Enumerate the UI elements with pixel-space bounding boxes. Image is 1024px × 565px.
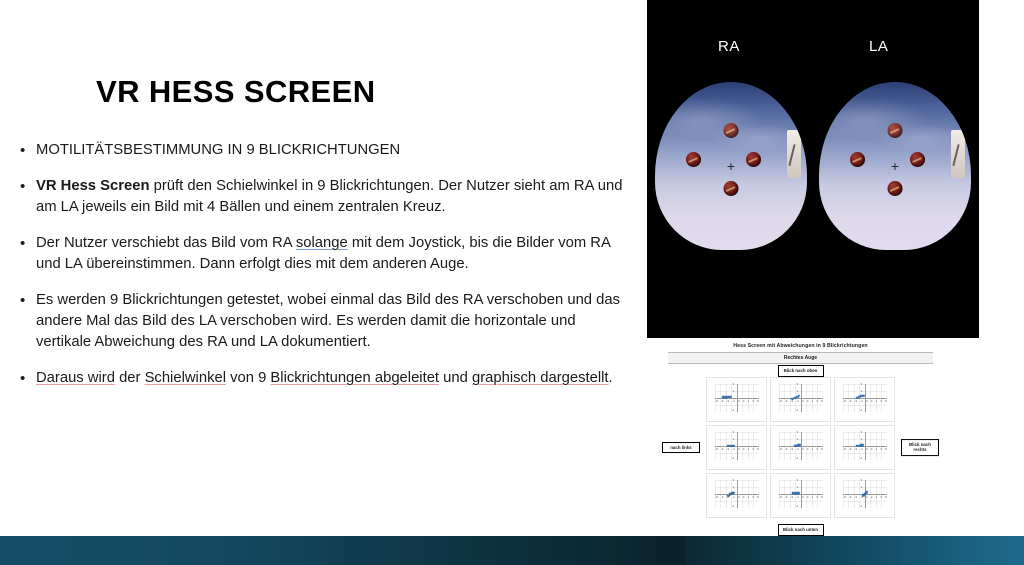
vr-eye-view-right: +: [655, 82, 807, 250]
y-axis: [801, 480, 802, 508]
ball-top-icon: [724, 123, 739, 138]
label-gaze-up: Blick nach oben: [778, 365, 824, 377]
x-tick-label: 4: [812, 496, 814, 499]
page-title: VR HESS SCREEN: [96, 74, 376, 110]
mini-chart-gridlines: [715, 432, 759, 460]
x-tick-label: 0: [802, 496, 804, 499]
bullet-derivation: •Daraus wird der Schielwinkel von 9 Blic…: [14, 368, 634, 389]
x-tick-label: 2: [871, 496, 873, 499]
x-tick-label: -8: [779, 496, 781, 499]
x-tick-label: 0: [866, 496, 868, 499]
text-run: und: [439, 370, 472, 386]
bullet-text: VR Hess Screen prüft den Schielwinkel in…: [36, 176, 634, 218]
mini-chart-gridlines: [715, 480, 759, 508]
hess-mini-chart-grid: -8-6-4-20246821-2-8-6-4-20246821-2-8-6-4…: [706, 377, 895, 518]
y-axis: [865, 384, 866, 412]
x-tick-label: 8: [885, 448, 887, 451]
bullet-marker-icon: •: [14, 176, 36, 197]
x-tick-label: 4: [812, 448, 814, 451]
x-tick-label: -4: [855, 400, 857, 403]
x-tick-label: 2: [743, 496, 745, 499]
x-tick-label: 6: [881, 400, 883, 403]
bullet-text: Daraus wird der Schielwinkel von 9 Blick…: [36, 368, 634, 389]
x-tick-label: 6: [753, 496, 755, 499]
x-tick-label: -2: [732, 400, 734, 403]
mini-chart-gridlines: [843, 432, 887, 460]
bullet-text: MOTILITÄTSBESTIMMUNG IN 9 BLICKRICHTUNGE…: [36, 140, 634, 161]
x-tick-label: -8: [843, 496, 845, 499]
x-tick-label: -6: [721, 496, 723, 499]
y-tick-label: -2: [732, 457, 734, 460]
bullet-definition: •VR Hess Screen prüft den Schielwinkel i…: [14, 176, 634, 218]
bullet-marker-icon: •: [14, 140, 36, 161]
mini-chart-gridlines: [715, 384, 759, 412]
y-tick-label: 1: [861, 438, 863, 441]
hess-mini-chart-bottom-center: -8-6-4-20246821-2: [770, 473, 831, 518]
ball-left-icon: [850, 152, 865, 167]
y-axis: [865, 480, 866, 508]
y-tick-label: -2: [796, 505, 798, 508]
y-tick-label: -2: [732, 409, 734, 412]
x-tick-label: 8: [757, 448, 759, 451]
x-tick-labels: -8-6-4-202468: [715, 496, 759, 499]
ball-bottom-icon: [888, 181, 903, 196]
y-tick-label: 1: [861, 390, 863, 393]
slide-text-column: VR HESS SCREEN •MOTILITÄTSBESTIMMUNG IN …: [0, 0, 645, 536]
x-tick-labels: -8-6-4-202468: [843, 496, 887, 499]
ball-top-icon: [888, 123, 903, 138]
bullet-text: Der Nutzer verschiebt das Bild vom RA so…: [36, 233, 634, 275]
vr-target-cluster-right: +: [702, 137, 760, 195]
vr-eye-view-left: +: [819, 82, 971, 250]
hess-mini-chart-middle-left: -8-6-4-20246821-2: [706, 425, 767, 470]
x-tick-label: 4: [812, 400, 814, 403]
text-run: MOTILITÄTSBESTIMMUNG IN 9 BLICKRICHTUNGE…: [36, 142, 400, 158]
y-tick-label: 2: [797, 431, 799, 434]
x-tick-label: -8: [715, 496, 717, 499]
text-run: Der Nutzer verschiebt das Bild vom RA: [36, 235, 296, 251]
y-tick-label: 2: [861, 383, 863, 386]
x-tick-label: 6: [753, 400, 755, 403]
x-tick-label: 2: [807, 496, 809, 499]
y-tick-label: -2: [796, 409, 798, 412]
x-tick-label: 2: [807, 448, 809, 451]
x-tick-label: -8: [715, 448, 717, 451]
x-tick-label: 0: [738, 400, 740, 403]
x-tick-label: -4: [791, 448, 793, 451]
center-cross-icon: +: [891, 159, 899, 173]
x-tick-labels: -8-6-4-202468: [843, 448, 887, 451]
hess-chart-title: Hess Screen mit Abweichungen in 9 Blickr…: [668, 340, 933, 349]
bullet-marker-icon: •: [14, 233, 36, 254]
bullet-text: Es werden 9 Blickrichtungen getestet, wo…: [36, 290, 634, 353]
y-tick-label: -2: [860, 409, 862, 412]
text-run: graphisch dargestellt: [472, 370, 609, 386]
x-tick-label: 6: [753, 448, 755, 451]
x-tick-label: 6: [881, 496, 883, 499]
x-tick-label: 8: [757, 496, 759, 499]
vr-label-right-eye: RA: [718, 38, 740, 55]
mini-chart-gridlines: [779, 480, 823, 508]
y-tick-label: 2: [733, 431, 735, 434]
x-tick-label: 4: [748, 448, 750, 451]
footer-segment-left: [0, 536, 685, 565]
x-tick-label: 6: [817, 400, 819, 403]
x-tick-labels: -8-6-4-202468: [715, 400, 759, 403]
hess-chart-subtitle: Rechtes Auge: [668, 352, 933, 364]
x-tick-label: -4: [727, 448, 729, 451]
y-tick-label: 2: [861, 431, 863, 434]
text-run: von 9: [226, 370, 270, 386]
y-tick-label: 1: [797, 390, 799, 393]
y-axis: [737, 384, 738, 412]
ball-right-icon: [910, 152, 925, 167]
text-run: Es werden 9 Blickrichtungen getestet, wo…: [36, 292, 620, 350]
footer-segment-right: [685, 536, 1024, 565]
y-tick-label: 1: [797, 486, 799, 489]
x-tick-label: -6: [785, 448, 787, 451]
y-tick-label: -2: [860, 505, 862, 508]
x-tick-label: -2: [796, 448, 798, 451]
x-tick-label: -2: [732, 496, 734, 499]
x-tick-label: 6: [817, 496, 819, 499]
mini-chart-gridlines: [843, 480, 887, 508]
x-tick-label: -2: [732, 448, 734, 451]
y-tick-label: 1: [733, 438, 735, 441]
x-tick-label: -2: [860, 400, 862, 403]
x-tick-label: 2: [743, 400, 745, 403]
x-tick-label: -4: [727, 496, 729, 499]
ball-left-icon: [686, 152, 701, 167]
y-tick-label: 2: [733, 479, 735, 482]
x-tick-label: -8: [843, 448, 845, 451]
x-tick-label: -4: [855, 448, 857, 451]
x-tick-label: 6: [817, 448, 819, 451]
bullet-motility: •MOTILITÄTSBESTIMMUNG IN 9 BLICKRICHTUNG…: [14, 140, 634, 161]
ball-right-icon: [746, 152, 761, 167]
mini-chart-gridlines: [779, 384, 823, 412]
x-tick-labels: -8-6-4-202468: [779, 496, 823, 499]
center-cross-icon: +: [727, 159, 735, 173]
bullet-list: •MOTILITÄTSBESTIMMUNG IN 9 BLICKRICHTUNG…: [14, 140, 634, 405]
x-tick-label: -2: [860, 448, 862, 451]
vr-target-cluster-left: +: [866, 137, 924, 195]
x-tick-label: -2: [796, 496, 798, 499]
x-tick-labels: -8-6-4-202468: [843, 400, 887, 403]
bullet-joystick: •Der Nutzer verschiebt das Bild vom RA s…: [14, 233, 634, 275]
y-tick-label: 1: [733, 486, 735, 489]
y-axis: [865, 432, 866, 460]
x-tick-label: 2: [743, 448, 745, 451]
x-tick-label: -8: [779, 448, 781, 451]
x-tick-label: 0: [738, 496, 740, 499]
y-tick-label: 1: [797, 438, 799, 441]
bullet-nine-directions: •Es werden 9 Blickrichtungen getestet, w…: [14, 290, 634, 353]
y-axis: [801, 384, 802, 412]
text-run: Daraus wird: [36, 370, 115, 386]
y-tick-label: 2: [797, 383, 799, 386]
x-tick-label: 2: [871, 400, 873, 403]
x-tick-label: 8: [821, 496, 823, 499]
x-tick-label: 0: [866, 448, 868, 451]
x-tick-label: 2: [807, 400, 809, 403]
ball-bottom-icon: [724, 181, 739, 196]
text-run: VR Hess Screen: [36, 178, 150, 194]
x-tick-label: -2: [796, 400, 798, 403]
hess-mini-chart-top-right: -8-6-4-20246821-2: [834, 377, 895, 422]
vr-side-marker-icon: [951, 130, 965, 178]
hess-mini-chart-top-center: -8-6-4-20246821-2: [770, 377, 831, 422]
x-tick-label: 2: [871, 448, 873, 451]
x-tick-label: -6: [785, 400, 787, 403]
x-tick-label: -6: [721, 448, 723, 451]
text-run: .: [609, 370, 613, 386]
label-gaze-left: nach links: [662, 442, 700, 454]
y-tick-label: -2: [860, 457, 862, 460]
x-tick-label: -4: [791, 400, 793, 403]
x-tick-label: -4: [791, 496, 793, 499]
text-run: Blickrichtungen abgeleitet: [270, 370, 439, 386]
x-tick-label: 4: [876, 496, 878, 499]
y-tick-label: -2: [796, 457, 798, 460]
text-run: der: [115, 370, 145, 386]
label-gaze-right: Blick nach rechts: [901, 439, 939, 457]
bullet-marker-icon: •: [14, 368, 36, 389]
y-axis: [737, 432, 738, 460]
x-tick-label: -6: [849, 400, 851, 403]
slide-footer-bar: [0, 536, 1024, 565]
text-run: solange: [296, 235, 348, 251]
x-tick-label: 8: [885, 496, 887, 499]
y-axis: [737, 480, 738, 508]
y-tick-label: 2: [797, 479, 799, 482]
x-tick-label: -8: [843, 400, 845, 403]
mini-chart-gridlines: [843, 384, 887, 412]
x-tick-label: 0: [802, 400, 804, 403]
vr-headset-screenshot: RA LA + +: [647, 0, 979, 338]
mini-chart-gridlines: [779, 432, 823, 460]
x-tick-label: 0: [738, 448, 740, 451]
x-tick-label: 4: [748, 400, 750, 403]
text-run: Schielwinkel: [145, 370, 226, 386]
x-tick-label: -8: [715, 400, 717, 403]
hess-mini-chart-middle-right: -8-6-4-20246821-2: [834, 425, 895, 470]
x-tick-labels: -8-6-4-202468: [715, 448, 759, 451]
x-tick-label: 8: [757, 400, 759, 403]
y-axis: [801, 432, 802, 460]
x-tick-label: 6: [881, 448, 883, 451]
x-tick-label: -6: [849, 496, 851, 499]
vr-label-left-eye: LA: [869, 38, 888, 55]
x-tick-label: 0: [802, 448, 804, 451]
hess-mini-chart-middle-center: -8-6-4-20246821-2: [770, 425, 831, 470]
x-tick-labels: -8-6-4-202468: [779, 400, 823, 403]
label-gaze-down: Blick nach unten: [778, 524, 824, 536]
x-tick-label: -2: [860, 496, 862, 499]
x-tick-label: 4: [876, 400, 878, 403]
x-tick-labels: -8-6-4-202468: [779, 448, 823, 451]
x-tick-label: 4: [876, 448, 878, 451]
y-tick-label: 2: [861, 479, 863, 482]
x-tick-label: -6: [785, 496, 787, 499]
x-tick-label: -6: [721, 400, 723, 403]
x-tick-label: -8: [779, 400, 781, 403]
x-tick-label: 4: [748, 496, 750, 499]
y-tick-label: 1: [733, 390, 735, 393]
x-tick-label: 8: [821, 448, 823, 451]
bullet-marker-icon: •: [14, 290, 36, 311]
x-tick-label: -4: [855, 496, 857, 499]
x-tick-label: 8: [821, 400, 823, 403]
hess-mini-chart-top-left: -8-6-4-20246821-2: [706, 377, 767, 422]
x-tick-label: -6: [849, 448, 851, 451]
hess-grid-wrapper: Blick nach oben Blick nach unten nach li…: [668, 377, 933, 518]
y-tick-label: -2: [732, 505, 734, 508]
x-tick-label: 8: [885, 400, 887, 403]
x-tick-label: -4: [727, 400, 729, 403]
vr-side-marker-icon: [787, 130, 801, 178]
hess-screen-chart: Hess Screen mit Abweichungen in 9 Blickr…: [668, 340, 933, 532]
hess-mini-chart-bottom-left: -8-6-4-20246821-2: [706, 473, 767, 518]
y-tick-label: 2: [733, 383, 735, 386]
y-tick-label: 1: [861, 486, 863, 489]
x-tick-label: 0: [866, 400, 868, 403]
hess-mini-chart-bottom-right: -8-6-4-20246821-2: [834, 473, 895, 518]
